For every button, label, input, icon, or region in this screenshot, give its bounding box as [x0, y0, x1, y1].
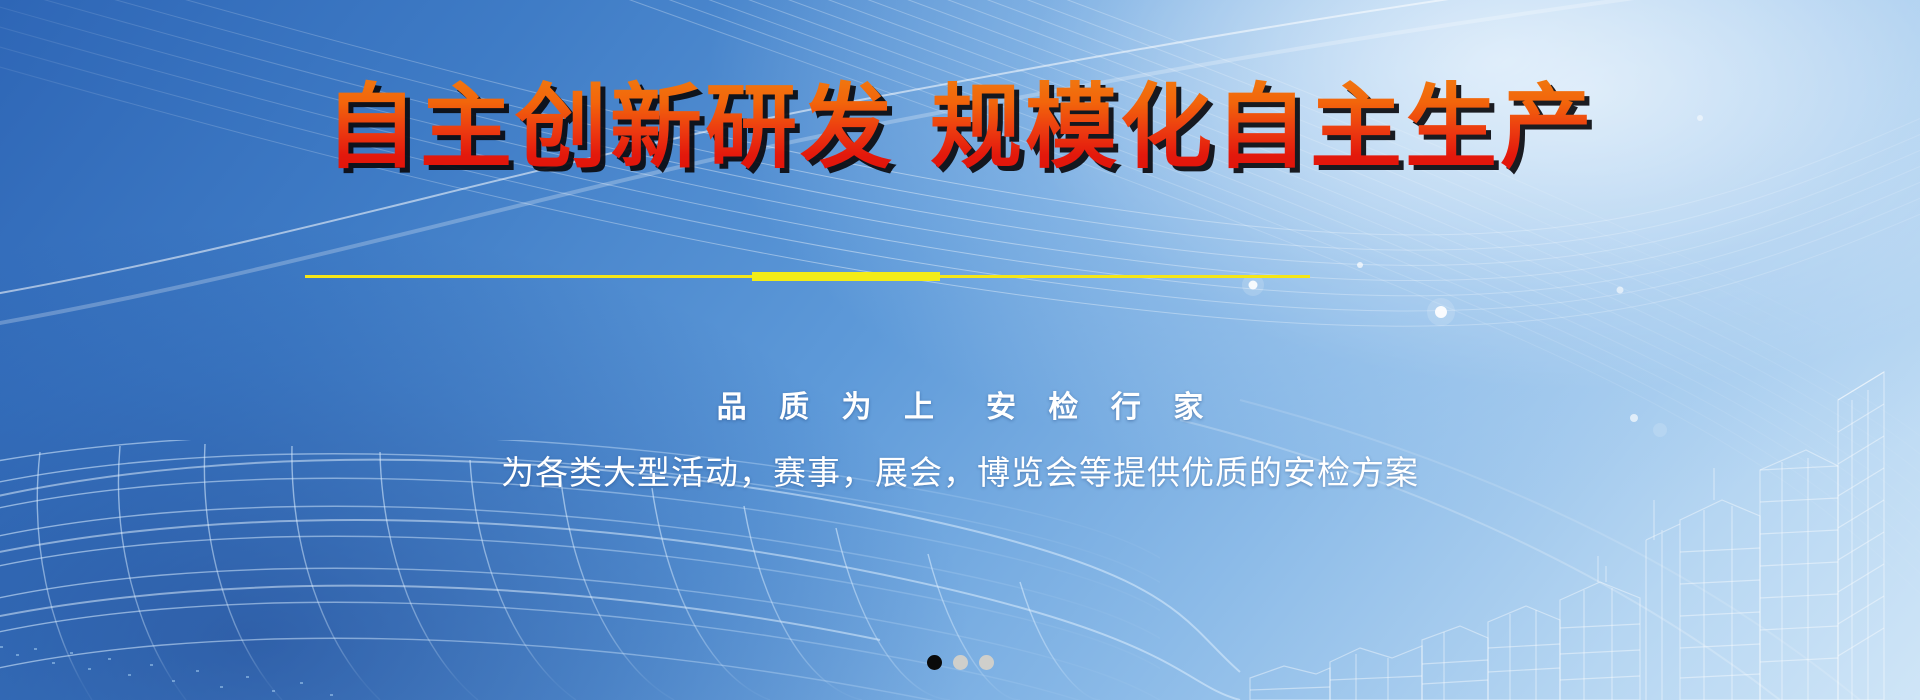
divider: [0, 272, 1920, 282]
carousel-dot-3[interactable]: [979, 655, 994, 670]
hero-banner: 自主创新研发 规模化自主生产 品 质 为 上 安 检 行 家 为各类大型活动，赛…: [0, 0, 1920, 700]
divider-thick-accent: [752, 272, 940, 281]
carousel-dots[interactable]: [0, 655, 1920, 670]
carousel-dot-1[interactable]: [927, 655, 942, 670]
page-title: 自主创新研发 规模化自主生产: [0, 74, 1920, 183]
tagline-text: 为各类大型活动，赛事，展会，博览会等提供优质的安检方案: [0, 446, 1920, 494]
carousel-dot-2[interactable]: [953, 655, 968, 670]
slogan-text: 品 质 为 上 安 检 行 家: [0, 382, 1920, 426]
